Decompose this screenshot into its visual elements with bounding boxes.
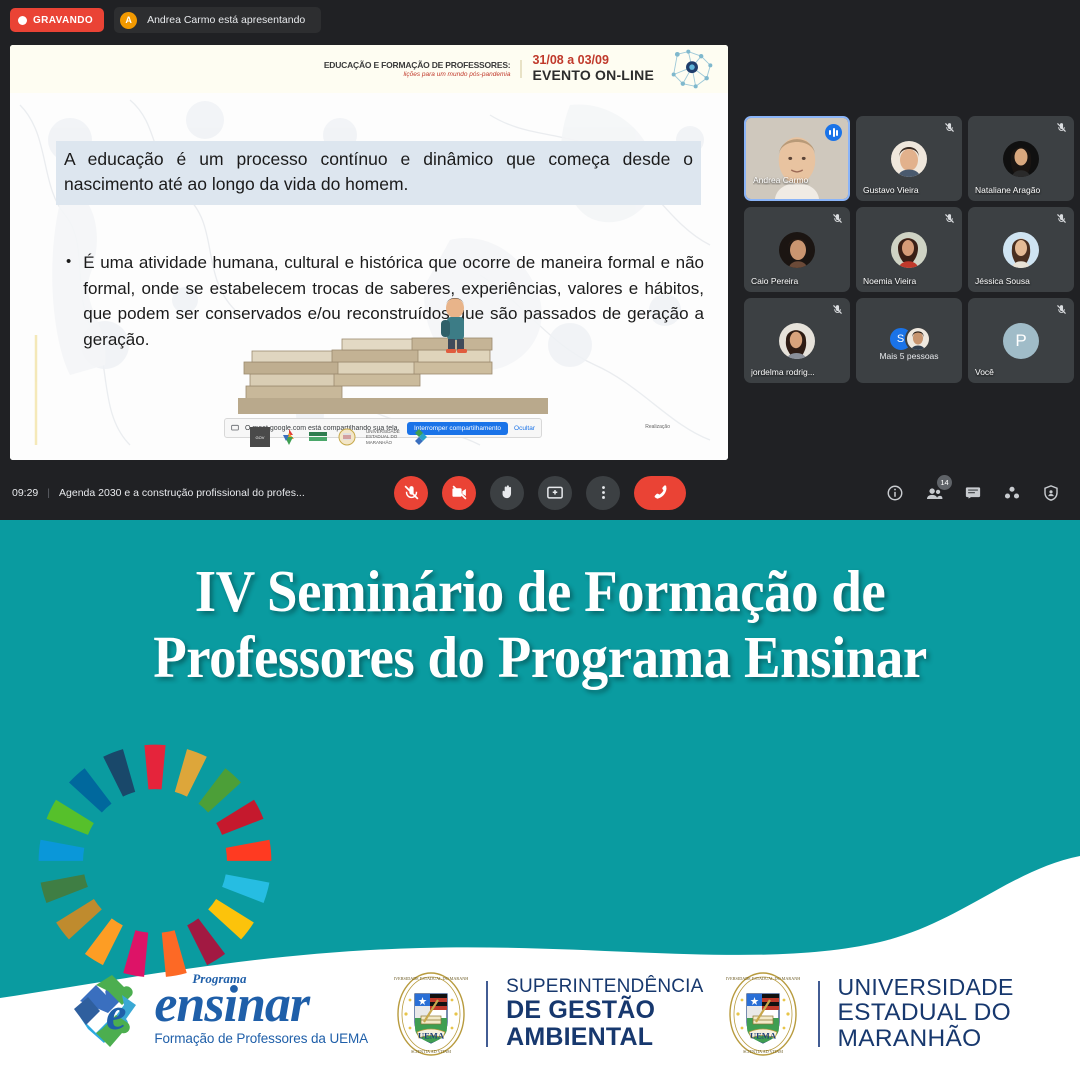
uema-wordmark: UNIVERSIDADE ESTADUAL DO MARANHÃO	[838, 975, 1014, 1052]
poster-canvas: GRAVANDO A Andrea Carmo está apresentand…	[0, 0, 1080, 1080]
participant-tile-andrea-carmo[interactable]: Andrea Carmo	[744, 116, 850, 201]
present-screen-button[interactable]	[538, 476, 572, 510]
sga-line-2: DE GESTÃO	[506, 997, 703, 1024]
logo-uema: UEMA UNIVERSIDADE ESTADUAL DO MARANHÃO S…	[726, 970, 1014, 1058]
mic-off-icon	[944, 213, 955, 224]
host-controls-button[interactable]	[1042, 484, 1060, 502]
audio-bar	[829, 130, 831, 135]
partner-logo-2-icon	[279, 427, 299, 447]
participant-tile-nataliane-aragao[interactable]: Nataliane Aragão	[968, 116, 1074, 201]
uema-crest-icon: UEMA UNIVERSIDADE ESTADUAL DO MARANHÃO S…	[394, 970, 468, 1058]
avatar-photo	[891, 141, 927, 177]
bullet-marker-icon: •	[66, 250, 71, 352]
footer-logos: e Programa ensinar Formação de Professor…	[0, 970, 1080, 1058]
avatar-photo	[779, 232, 815, 268]
partner-logo-3-icon	[308, 427, 328, 447]
mic-off-icon	[1056, 304, 1067, 315]
raise-hand-button[interactable]	[490, 476, 524, 510]
book-stack	[238, 338, 548, 414]
svg-text:GOV: GOV	[256, 435, 265, 440]
sdg-color-wheel-icon	[36, 742, 274, 980]
info-icon	[886, 484, 904, 502]
avatar	[779, 323, 815, 359]
ensinar-tagline: Formação de Professores da UEMA	[154, 1031, 368, 1046]
mic-off-icon	[832, 213, 843, 224]
meet-right-actions: 14	[886, 484, 1060, 502]
sga-line-3: AMBIENTAL	[506, 1024, 703, 1051]
participant-name: Gustavo Vieira	[863, 185, 955, 195]
slide-header-left: EDUCAÇÃO E FORMAÇÃO DE PROFESSORES: liçõ…	[324, 60, 523, 78]
ensinar-word: ensinar	[154, 982, 368, 1029]
uema-crest-small-icon	[337, 427, 357, 447]
recording-dot-icon	[18, 16, 27, 25]
slide-header: EDUCAÇÃO E FORMAÇÃO DE PROFESSORES: liçõ…	[10, 45, 728, 93]
audio-bar	[833, 128, 835, 137]
slide-header-right: 31/08 a 03/09 EVENTO ON-LINE	[532, 54, 654, 83]
uema-line-3: MARANHÃO	[838, 1026, 1014, 1052]
avatar	[779, 232, 815, 268]
more-vertical-icon	[595, 484, 612, 501]
activities-button[interactable]	[1003, 484, 1021, 502]
participant-count-badge: 14	[937, 475, 952, 490]
participant-name: Caio Pereira	[751, 276, 843, 286]
raise-hand-icon	[499, 484, 516, 501]
mic-off-icon	[944, 122, 955, 133]
audio-bar	[836, 130, 838, 136]
slide-illustration-books-and-child	[238, 290, 548, 420]
uema-line-2: ESTADUAL DO	[838, 1000, 1014, 1026]
mic-off-icon	[403, 484, 420, 501]
overflow-avatar-photo	[905, 326, 931, 352]
meet-control-bar: 09:29 | Agenda 2030 e a construção profi…	[0, 465, 1080, 520]
speaking-indicator-icon	[825, 124, 842, 141]
participant-name: Você	[975, 367, 1067, 377]
shield-icon	[1042, 484, 1060, 502]
crest-bottom-text: SCIENTIA AD VITAM	[411, 1049, 451, 1054]
overflow-label: Mais 5 pessoas	[856, 351, 962, 361]
slide-header-event: EVENTO ON-LINE	[532, 68, 654, 83]
avatar-photo	[779, 323, 815, 359]
avatar	[1003, 141, 1039, 177]
svg-text:e: e	[106, 988, 126, 1039]
crest-label: UEMA	[418, 1031, 445, 1041]
network-brain-icon	[664, 47, 720, 91]
mic-toggle-button[interactable]	[394, 476, 428, 510]
camera-toggle-button[interactable]	[442, 476, 476, 510]
logo-divider	[486, 981, 488, 1047]
avatar-photo	[1003, 232, 1039, 268]
ensinar-wordmark: Programa ensinar Formação de Professores…	[154, 982, 368, 1046]
partner-logo-1-icon: GOV	[250, 427, 270, 447]
participant-tile-more-people[interactable]: S Mais 5 pessoas	[856, 298, 962, 383]
activities-icon	[1003, 484, 1021, 502]
present-screen-icon	[546, 484, 564, 502]
sga-wordmark: SUPERINTENDÊNCIA DE GESTÃO AMBIENTAL	[506, 977, 703, 1051]
participant-tile-jordelma-rodrigues[interactable]: jordelma rodrig...	[744, 298, 850, 383]
slide-quote: A educação é um processo contínuo e dinâ…	[56, 141, 701, 205]
overflow-avatars: S	[888, 326, 931, 352]
participant-name: Noemia Vieira	[863, 276, 955, 286]
uema-line-1: UNIVERSIDADE	[838, 975, 1014, 1000]
chat-icon	[964, 484, 982, 502]
uema-footer-wordmark: UNIVERSIDADEESTADUAL DOMARANHÃO	[366, 429, 400, 445]
avatar	[891, 232, 927, 268]
avatar	[1003, 232, 1039, 268]
avatar	[891, 141, 927, 177]
ensinar-programa-label: Programa	[192, 971, 246, 987]
slide-footer-logos: GOV	[10, 414, 728, 460]
crest-top-text: UNIVERSIDADE ESTADUAL DO MARANHÃO	[726, 976, 800, 981]
uema-footer-text: UNIVERSIDADEESTADUAL DOMARANHÃO	[366, 429, 400, 445]
participant-tile-noemia-vieira[interactable]: Noemia Vieira	[856, 207, 962, 292]
google-meet-screenshot: GRAVANDO A Andrea Carmo está apresentand…	[0, 0, 1080, 520]
mic-off-icon	[832, 304, 843, 315]
participant-tile-caio-pereira[interactable]: Caio Pereira	[744, 207, 850, 292]
participant-name: Jéssica Sousa	[975, 276, 1067, 286]
participant-tile-jessica-sousa[interactable]: Jéssica Sousa	[968, 207, 1074, 292]
slide-header-subtitle: lições para um mundo pós-pandemia	[324, 71, 511, 78]
presenter-avatar: A	[120, 12, 137, 29]
crest-label: UEMA	[750, 1031, 777, 1041]
poster-body: IV Seminário de Formação de Professores …	[0, 520, 1080, 1080]
participant-tile-grid: Andrea Carmo Gustavo Vieira	[744, 116, 1074, 383]
more-options-button[interactable]	[586, 476, 620, 510]
participant-name: Nataliane Aragão	[975, 185, 1067, 195]
participant-tile-gustavo-vieira[interactable]: Gustavo Vieira	[856, 116, 962, 201]
presenting-banner: A Andrea Carmo está apresentando	[114, 7, 321, 33]
ensinar-puzzle-icon: e	[66, 971, 152, 1057]
participant-name: Andrea Carmo	[753, 175, 841, 185]
recording-label: GRAVANDO	[33, 15, 93, 26]
crest-top-text: UNIVERSIDADE ESTADUAL DO MARANHÃO	[394, 976, 468, 981]
slide-header-date: 31/08 a 03/09	[532, 54, 654, 68]
avatar-photo	[891, 232, 927, 268]
mic-off-icon	[1056, 213, 1067, 224]
chat-button[interactable]	[964, 484, 982, 502]
end-call-button[interactable]	[634, 476, 686, 510]
recording-badge: GRAVANDO	[10, 8, 104, 32]
self-avatar-initial: P	[1003, 323, 1039, 359]
logo-programa-ensinar: e Programa ensinar Formação de Professor…	[66, 971, 368, 1057]
meeting-details-button[interactable]	[886, 484, 904, 502]
avatar-photo	[907, 328, 929, 350]
avatar-photo	[1003, 141, 1039, 177]
logo-superintendencia-gestao-ambiental: UEMA UNIVERSIDADE ESTADUAL DO MARANHÃO S…	[394, 970, 703, 1058]
page-title: IV Seminário de Formação de Professores …	[38, 558, 1042, 690]
sga-line-1: SUPERINTENDÊNCIA	[506, 977, 703, 997]
end-call-icon	[649, 481, 672, 504]
show-everyone-button[interactable]: 14	[925, 484, 943, 502]
shared-screen[interactable]: EDUCAÇÃO E FORMAÇÃO DE PROFESSORES: liçõ…	[10, 45, 728, 460]
uema-crest-icon: UEMA UNIVERSIDADE ESTADUAL DO MARANHÃO S…	[726, 970, 800, 1058]
presentation-slide: EDUCAÇÃO E FORMAÇÃO DE PROFESSORES: liçõ…	[10, 45, 728, 460]
presenting-label: Andrea Carmo está apresentando	[147, 14, 305, 26]
mic-off-icon	[1056, 122, 1067, 133]
meet-top-bar: GRAVANDO A Andrea Carmo está apresentand…	[0, 0, 1080, 40]
ensinar-footer-icon	[409, 427, 429, 447]
participant-name: jordelma rodrig...	[751, 367, 843, 377]
camera-off-icon	[451, 484, 468, 501]
slide-header-title: EDUCAÇÃO E FORMAÇÃO DE PROFESSORES:	[324, 60, 511, 70]
crest-bottom-text: SCIENTIA AD VITAM	[742, 1049, 782, 1054]
participant-tile-self[interactable]: P Você	[968, 298, 1074, 383]
logo-divider	[818, 981, 820, 1047]
